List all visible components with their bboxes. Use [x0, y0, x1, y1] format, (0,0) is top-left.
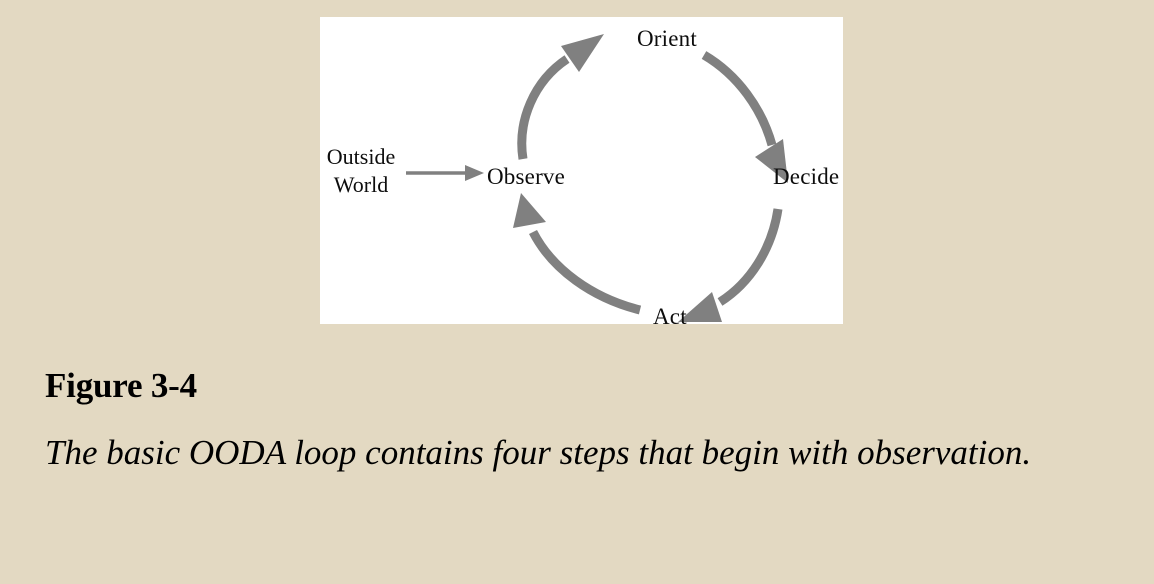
node-label-act: Act — [653, 305, 687, 328]
node-label-decide: Decide — [773, 165, 839, 188]
outside-world-line-2: World — [316, 171, 406, 199]
edge-act-to-observe — [513, 193, 640, 310]
outside-world-to-observe-arrow — [402, 160, 488, 186]
node-label-orient: Orient — [637, 27, 697, 50]
outside-world-label: Outside World — [316, 143, 406, 199]
figure-caption-title: Figure 3-4 — [45, 368, 1105, 403]
figure-caption: Figure 3-4 The basic OODA loop contains … — [45, 368, 1105, 482]
edge-decide-to-act — [678, 209, 778, 322]
outside-world-line-1: Outside — [316, 143, 406, 171]
node-label-observe: Observe — [487, 165, 565, 188]
figure-caption-text: The basic OODA loop contains four steps … — [45, 425, 1060, 482]
edge-observe-to-orient — [522, 34, 604, 159]
